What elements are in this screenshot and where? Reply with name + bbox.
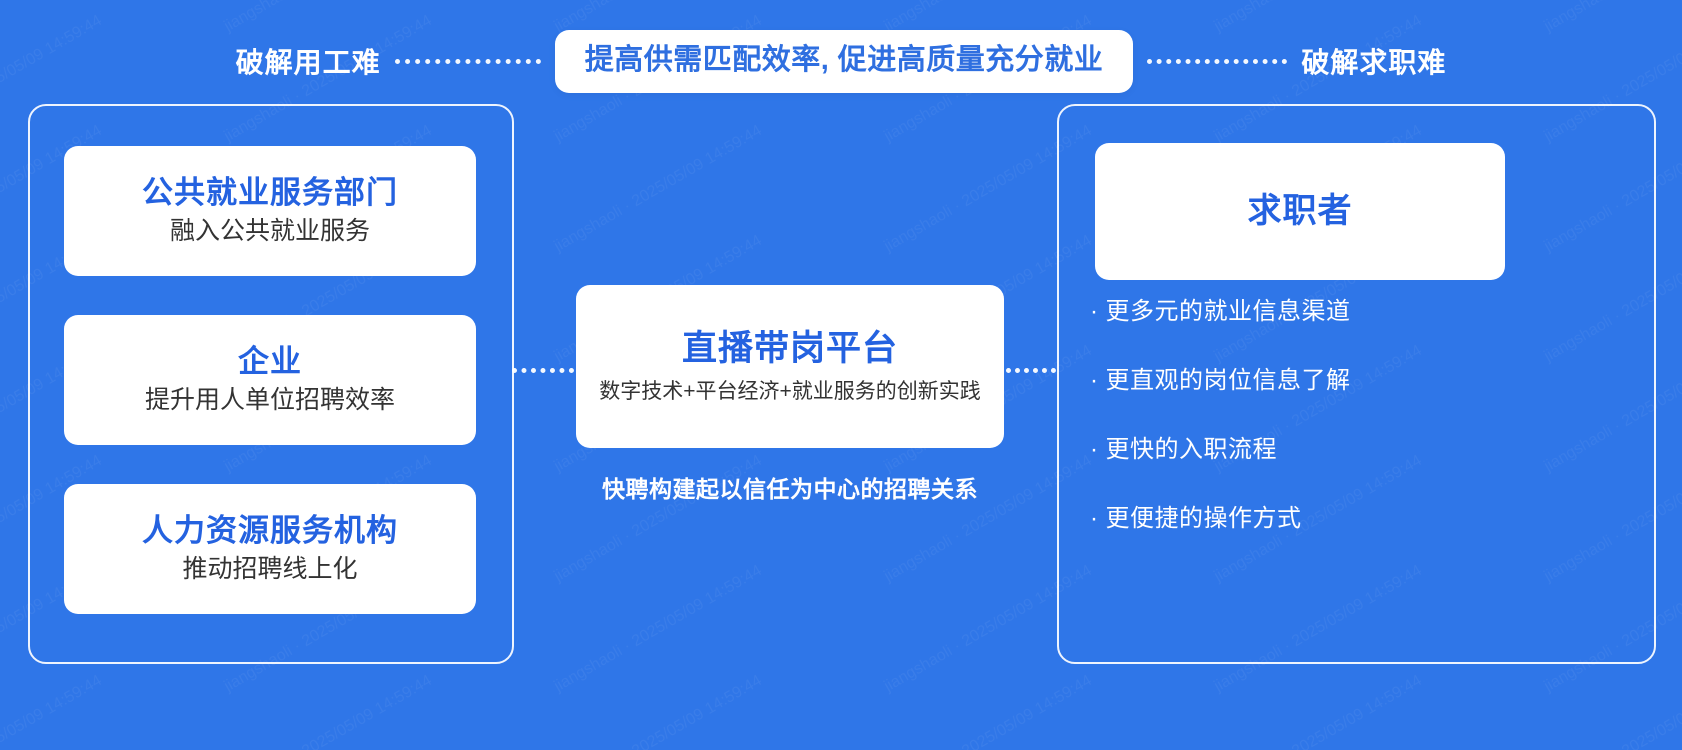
watermark-text: jiangshaoli · 2025/05/09 14:59:44	[551, 122, 765, 256]
watermark-text: jiangshaoli · 2025/05/09 14:59:44	[221, 672, 435, 750]
watermark-text: jiangshaoli · 2025/05/09 14:59:44	[551, 562, 765, 696]
center-caption: 快聘构建起以信任为中心的招聘关系	[576, 470, 1004, 504]
benefit-item: ·更便捷的操作方式	[1090, 507, 1610, 531]
watermark-text: jiangshaoli · 2025/05/09 14:59:44	[0, 672, 105, 750]
bullet-dot-icon: ·	[1090, 369, 1099, 393]
card-subtitle: 推动招聘线上化	[182, 554, 357, 584]
benefit-label: 更多元的就业信息渠道	[1106, 300, 1351, 324]
watermark-text: jiangshaoli · 2025/05/09 14:59:44	[1211, 672, 1425, 750]
right-problem-label: 破解求职难	[1301, 41, 1446, 81]
card-enterprise[interactable]: 企业 提升用人单位招聘效率	[64, 315, 476, 445]
card-title: 求职者	[1248, 192, 1353, 230]
left-problem-label: 破解用工难	[236, 41, 381, 81]
card-title: 公共就业服务部门	[142, 176, 398, 211]
benefit-label: 更便捷的操作方式	[1106, 507, 1302, 531]
card-subtitle: 提升用人单位招聘效率	[145, 385, 395, 415]
dotted-connector-right	[1147, 59, 1287, 64]
dotted-connector-left-to-center	[512, 368, 574, 373]
bullet-dot-icon: ·	[1090, 507, 1099, 531]
benefit-item: ·更多元的就业信息渠道	[1090, 300, 1610, 324]
benefit-item: ·更直观的岗位信息了解	[1090, 369, 1610, 393]
card-jobseeker[interactable]: 求职者	[1095, 143, 1505, 280]
card-subtitle: 融入公共就业服务	[170, 216, 370, 246]
card-subtitle: 数字技术+平台经济+就业服务的创新实践	[599, 379, 981, 404]
card-title: 直播带岗平台	[682, 329, 898, 368]
card-hr-service-agency[interactable]: 人力资源服务机构 推动招聘线上化	[64, 484, 476, 614]
watermark-text: jiangshaoli · 2025/05/09 14:59:44	[1541, 672, 1682, 750]
bullet-dot-icon: ·	[1090, 438, 1099, 462]
benefit-label: 更直观的岗位信息了解	[1106, 369, 1351, 393]
benefit-list: ·更多元的就业信息渠道·更直观的岗位信息了解·更快的入职流程·更便捷的操作方式	[1090, 300, 1610, 531]
dotted-connector-center-to-right	[1006, 368, 1056, 373]
card-title: 人力资源服务机构	[142, 514, 398, 549]
dotted-connector-left	[395, 59, 541, 64]
header-row: 破解用工难 提高供需匹配效率, 促进高质量充分就业 破解求职难	[0, 27, 1682, 95]
benefit-label: 更快的入职流程	[1106, 438, 1278, 462]
card-live-streaming-job-platform[interactable]: 直播带岗平台 数字技术+平台经济+就业服务的创新实践	[576, 285, 1004, 448]
benefit-item: ·更快的入职流程	[1090, 438, 1610, 462]
bullet-dot-icon: ·	[1090, 300, 1099, 324]
card-public-employment-service[interactable]: 公共就业服务部门 融入公共就业服务	[64, 146, 476, 276]
watermark-text: jiangshaoli · 2025/05/09 14:59:44	[881, 672, 1095, 750]
watermark-text: jiangshaoli · 2025/05/09 14:59:44	[551, 672, 765, 750]
headline-pill: 提高供需匹配效率, 促进高质量充分就业	[555, 30, 1134, 93]
card-title: 企业	[238, 345, 302, 380]
